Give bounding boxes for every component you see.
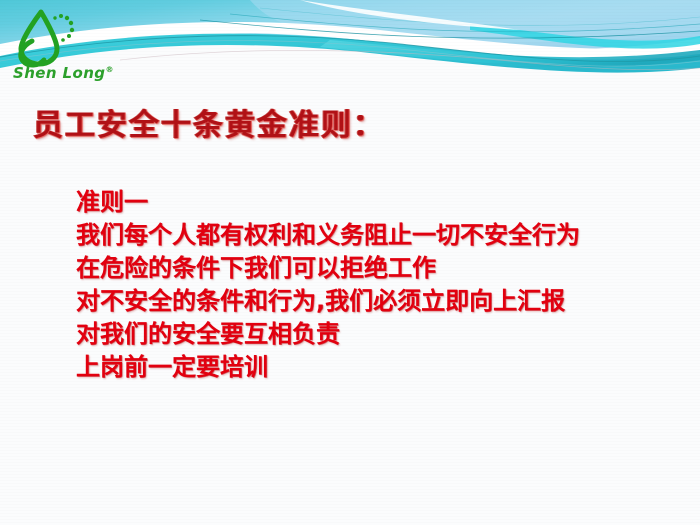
water-droplet-icon	[8, 8, 118, 68]
droplet-outline	[21, 12, 57, 64]
body-line: 准则一	[76, 186, 580, 219]
body-line: 对不安全的条件和行为,我们必须立即向上汇报	[76, 285, 580, 318]
registered-mark: ®	[105, 65, 113, 74]
logo-wordmark: Shen Long®	[13, 64, 114, 82]
body-line: 在危险的条件下我们可以拒绝工作	[76, 252, 580, 285]
presentation-slide: Shen Long® 员工安全十条黄金准则： 准则一 我们每个人都有权利和义务阻…	[0, 0, 700, 525]
logo: Shen Long®	[8, 8, 118, 86]
body-line: 对我们的安全要互相负责	[76, 318, 580, 351]
logo-wordmark-text: Shen Long	[13, 64, 105, 82]
body-line: 我们每个人都有权利和义务阻止一切不安全行为	[76, 219, 580, 252]
page-title: 员工安全十条黄金准则：	[33, 100, 385, 144]
body-line: 上岗前一定要培训	[76, 351, 580, 384]
body-text-block: 准则一 我们每个人都有权利和义务阻止一切不安全行为 在危险的条件下我们可以拒绝工…	[76, 186, 580, 384]
